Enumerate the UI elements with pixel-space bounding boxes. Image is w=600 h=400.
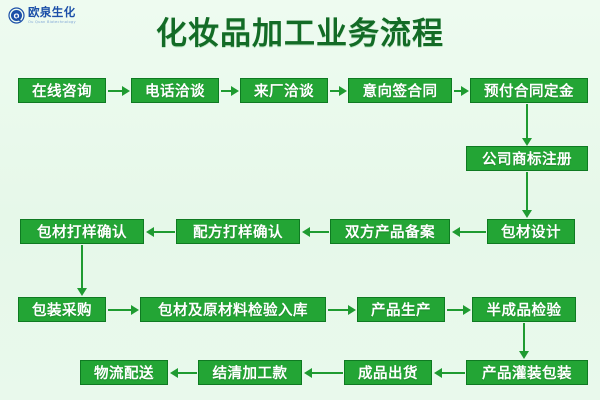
flow-node[interactable]: 包材打样确认 xyxy=(20,219,144,244)
connector-arrow-down xyxy=(74,245,90,296)
flow-node[interactable]: 配方打样确认 xyxy=(176,219,300,244)
flow-node[interactable]: 产品生产 xyxy=(357,297,445,322)
connector-arrow-right xyxy=(330,78,347,103)
flow-node[interactable]: 包材及原材料检验入库 xyxy=(140,297,326,322)
connector-arrow-right xyxy=(447,297,471,322)
connector-arrow-right xyxy=(108,78,130,103)
connector-arrow-right xyxy=(221,78,239,103)
connector-arrow-down xyxy=(519,104,535,146)
flow-node[interactable]: 在线咨询 xyxy=(18,78,106,103)
connector-arrow-down xyxy=(516,323,532,359)
flow-node[interactable]: 半成品检验 xyxy=(472,297,576,322)
flow-node[interactable]: 包材设计 xyxy=(487,219,575,244)
flow-node[interactable]: 双方产品备案 xyxy=(330,219,450,244)
connector-arrow-left xyxy=(452,219,486,244)
flow-node[interactable]: 电话洽谈 xyxy=(131,78,219,103)
flow-node[interactable]: 物流配送 xyxy=(80,360,168,385)
page-title: 化妆品加工业务流程 xyxy=(0,8,600,53)
connector-arrow-right xyxy=(108,297,139,322)
connector-arrow-right xyxy=(328,297,356,322)
flow-node[interactable]: 预付合同定金 xyxy=(470,78,588,103)
flow-node[interactable]: 公司商标注册 xyxy=(466,146,588,171)
flow-node[interactable]: 成品出货 xyxy=(344,360,432,385)
connector-arrow-down xyxy=(519,172,535,218)
connector-arrow-left xyxy=(302,219,329,244)
flow-node[interactable]: 结清加工款 xyxy=(198,360,302,385)
connector-arrow-left xyxy=(170,360,197,385)
flowchart-canvas: Q 欧泉生化 Ou Quan Biotechnology 化妆品加工业务流程 在… xyxy=(0,0,600,400)
flow-node[interactable]: 意向签合同 xyxy=(348,78,452,103)
flow-node[interactable]: 包装采购 xyxy=(18,297,106,322)
flow-node[interactable]: 产品灌装包装 xyxy=(466,360,588,385)
connector-arrow-left xyxy=(146,219,175,244)
connector-arrow-left xyxy=(434,360,465,385)
connector-arrow-left xyxy=(304,360,343,385)
flow-node[interactable]: 来厂洽谈 xyxy=(240,78,328,103)
connector-arrow-right xyxy=(454,78,469,103)
